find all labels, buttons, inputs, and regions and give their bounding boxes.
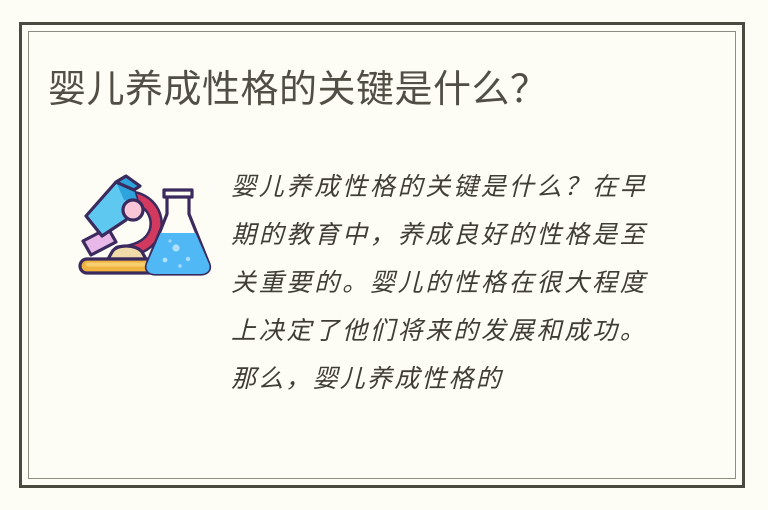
microscope-and-flask-illustration — [64, 160, 212, 284]
page-title: 婴儿养成性格的关键是什么？ — [48, 66, 698, 114]
article-body-text: 婴儿养成性格的关键是什么？在早期的教育中，养成良好的性格是至关重要的。婴儿的性格… — [231, 163, 647, 403]
page-root: 婴儿养成性格的关键是什么？ — [0, 0, 768, 510]
